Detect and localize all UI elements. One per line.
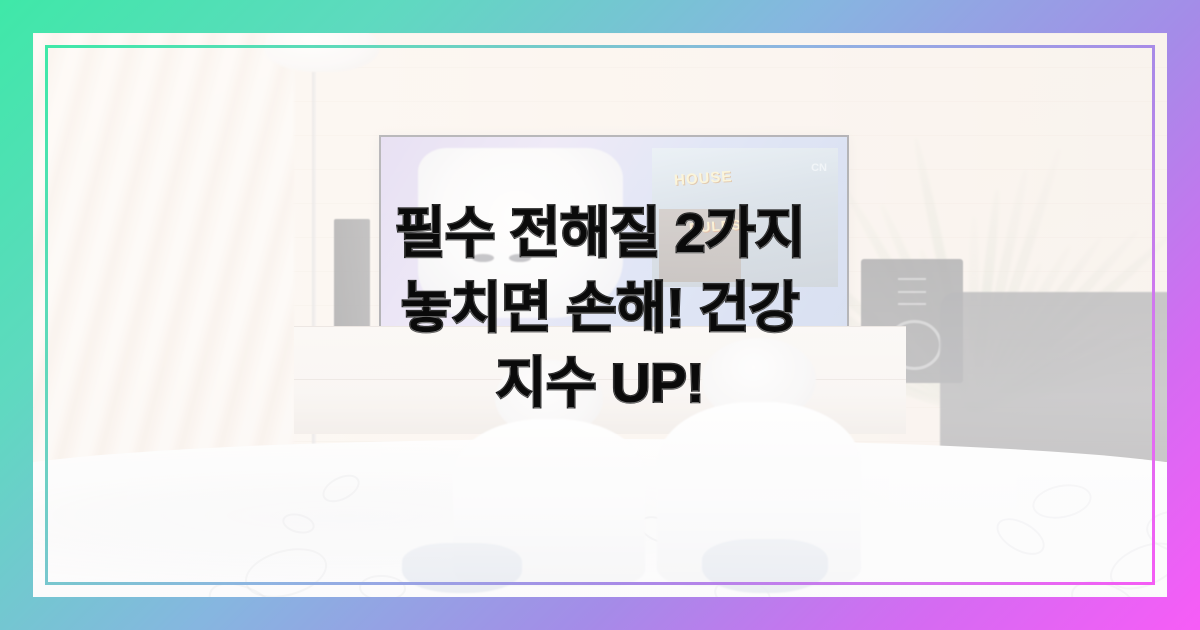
tv-title-bottom: RULES <box>688 216 741 236</box>
thumbnail-canvas: HOUSE RULES CN <box>0 0 1200 630</box>
child-left <box>453 360 646 586</box>
tv-character-eye-left <box>472 254 495 263</box>
photo-frame: HOUSE RULES CN <box>33 33 1167 597</box>
tv-character-eye-right <box>509 254 532 263</box>
child-right <box>657 338 861 586</box>
background-scene: HOUSE RULES CN <box>33 33 1167 597</box>
rug-pattern-swirl <box>318 470 364 508</box>
tv-channel-badge: CN <box>811 162 827 174</box>
tv-title-top: HOUSE <box>673 168 732 189</box>
subwoofer-vent-3 <box>898 303 927 305</box>
child-left-legs <box>402 543 522 593</box>
child-right-legs <box>702 539 829 594</box>
rug-pattern-swirl <box>358 574 406 597</box>
subwoofer-vent-1 <box>898 278 927 280</box>
rug-pattern-swirl <box>1029 480 1094 524</box>
subwoofer-vent-2 <box>898 291 927 293</box>
tv-screen: HOUSE RULES CN <box>381 137 848 330</box>
tv-cartoon-character <box>418 148 623 318</box>
television: HOUSE RULES CN <box>379 135 850 332</box>
tv-title-card: HOUSE RULES CN <box>652 148 839 287</box>
rug-pattern-swirl <box>990 510 1051 562</box>
rug-pattern-swirl <box>281 510 318 536</box>
